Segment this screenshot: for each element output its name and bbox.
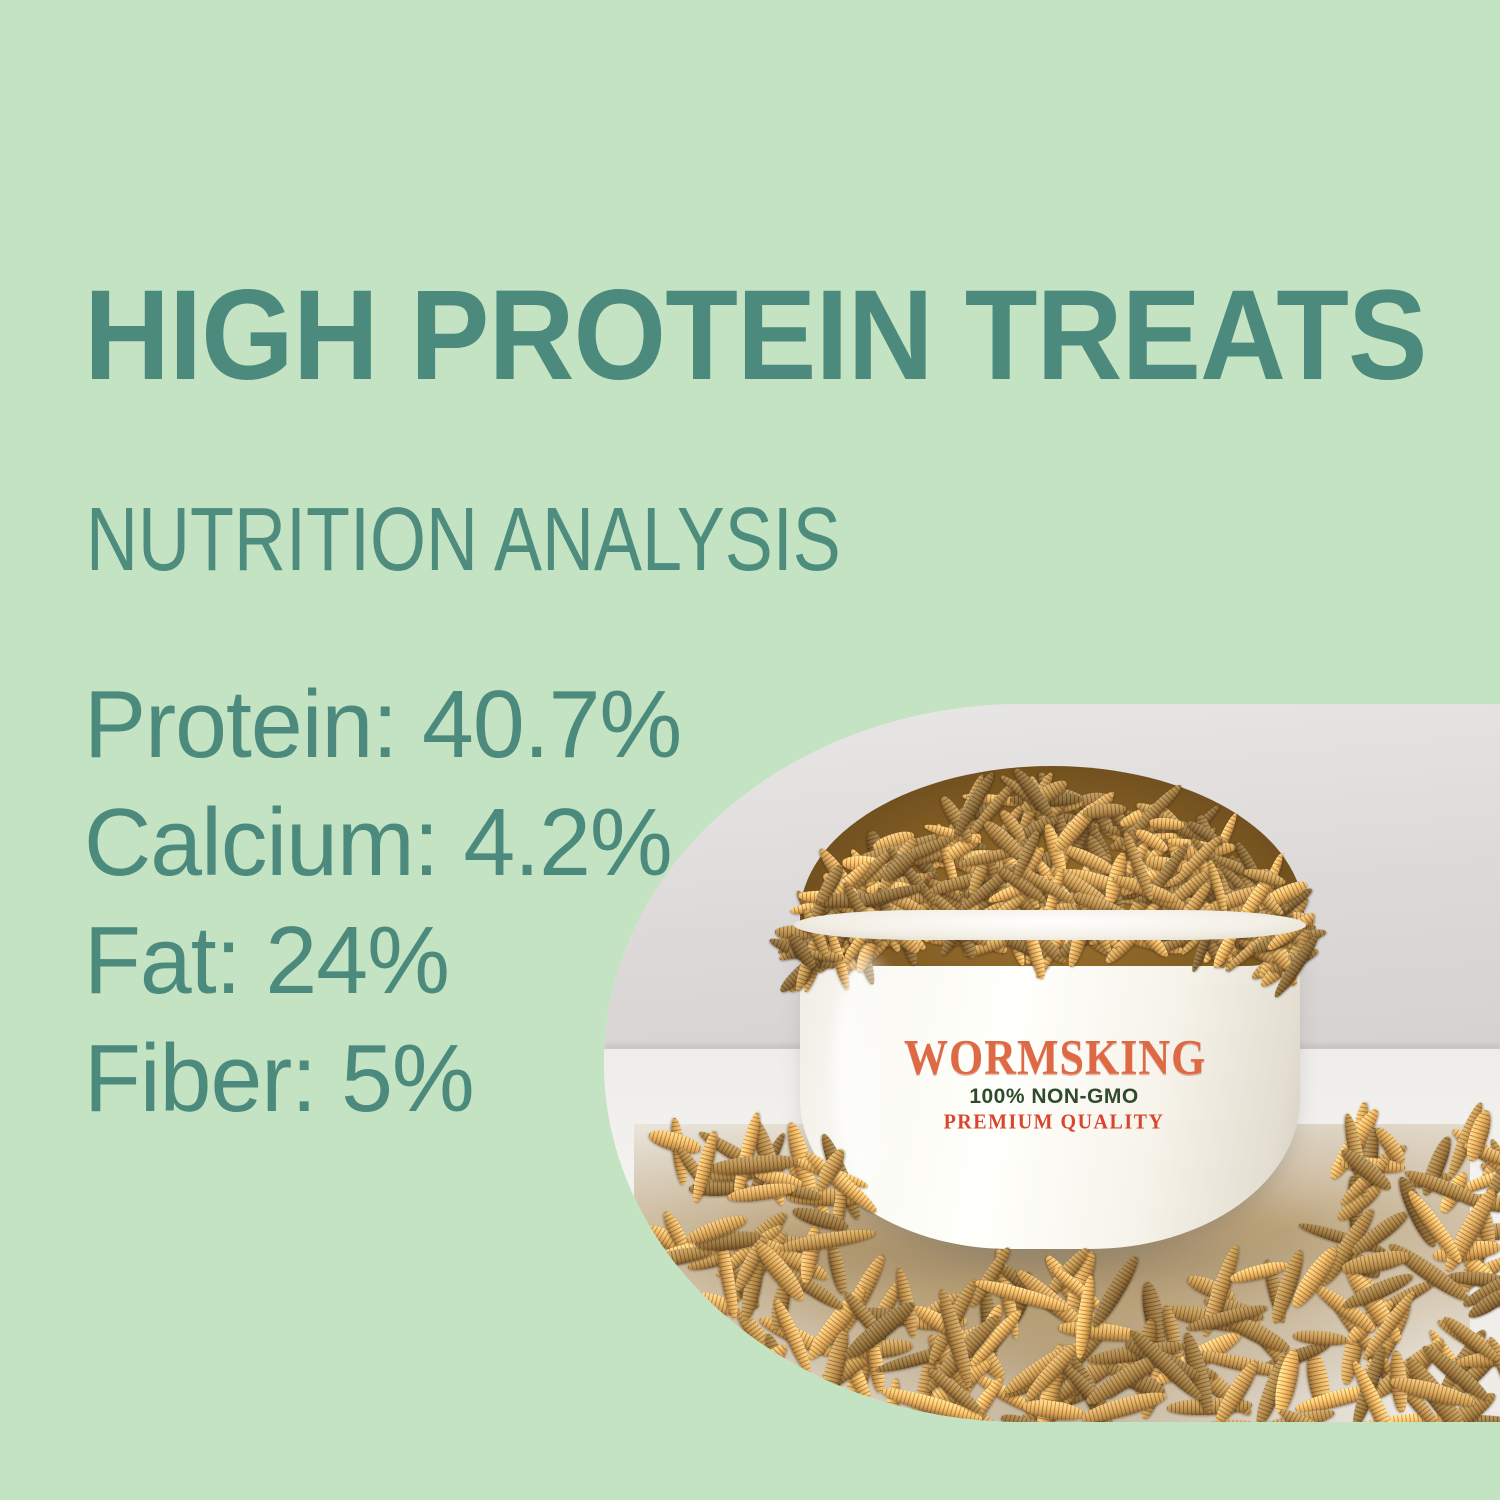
page-subtitle: NUTRITION ANALYSIS — [86, 495, 841, 585]
bowl-logo-tagline: PREMIUM QUALITY — [904, 1109, 1204, 1135]
poster-canvas: HIGH PROTEIN TREATS NUTRITION ANALYSIS P… — [0, 0, 1500, 1500]
bowl-logo-claim: 100% NON-GMO — [904, 1084, 1204, 1110]
list-item: Fat: 24% — [84, 902, 681, 1020]
larva — [1087, 1253, 1143, 1331]
product-photo: WORMSKING 100% NON-GMO PREMIUM QUALITY — [604, 704, 1500, 1422]
larva — [635, 1337, 685, 1396]
bowl-logo-brand: WORMSKING — [904, 1031, 1204, 1085]
bowl-logo: WORMSKING 100% NON-GMO PREMIUM QUALITY — [904, 1034, 1204, 1154]
list-item: Calcium: 4.2% — [84, 784, 681, 902]
list-item: Fiber: 5% — [84, 1020, 681, 1138]
list-item: Protein: 40.7% — [84, 666, 681, 784]
photo-scene: WORMSKING 100% NON-GMO PREMIUM QUALITY — [604, 704, 1500, 1422]
larva — [1292, 1328, 1348, 1346]
page-title: HIGH PROTEIN TREATS — [84, 272, 1386, 400]
